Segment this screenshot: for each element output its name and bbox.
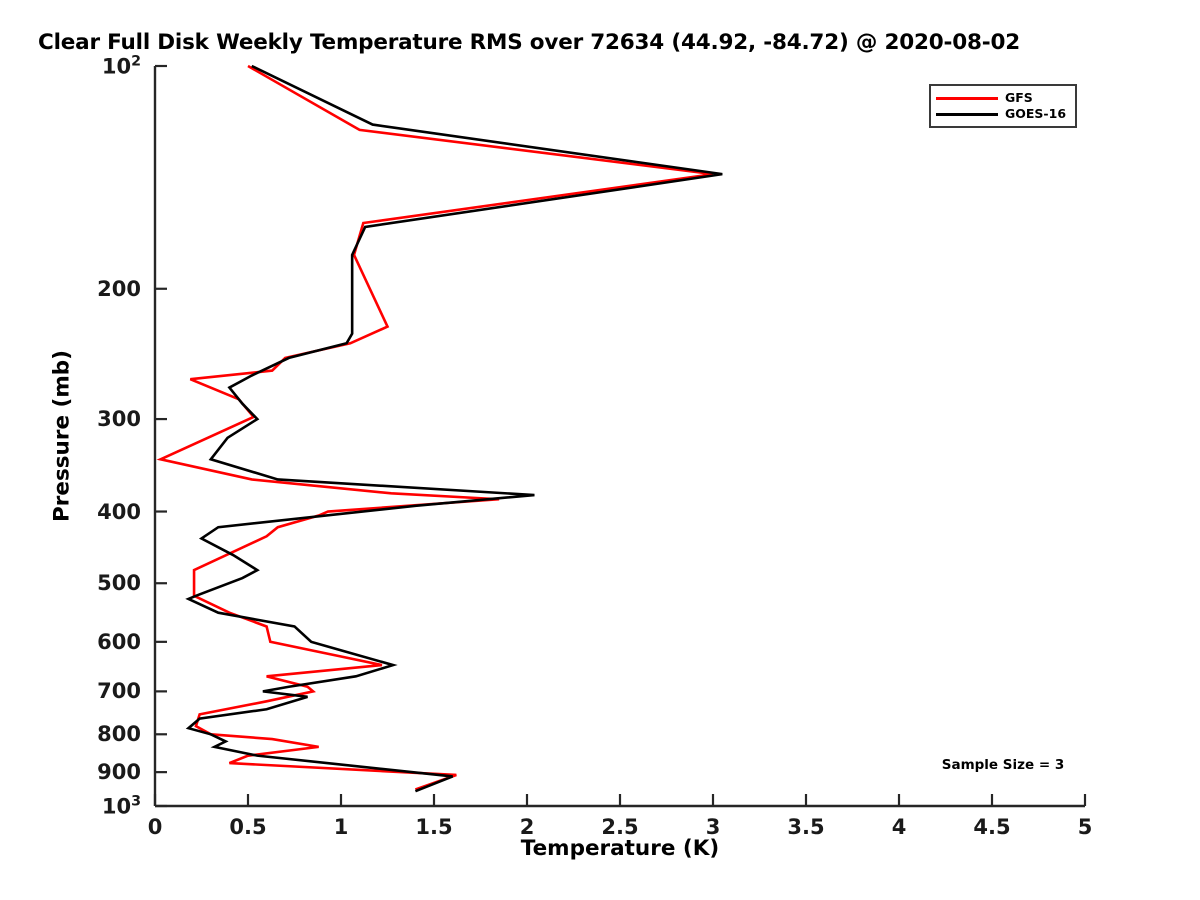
chart-page: Clear Full Disk Weekly Temperature RMS o… — [0, 0, 1200, 900]
y-tick-label: 103 — [102, 794, 141, 819]
x-tick-label: 0.5 — [229, 815, 266, 839]
page-title: Clear Full Disk Weekly Temperature RMS o… — [38, 30, 1020, 55]
plot-canvas — [155, 66, 1085, 806]
x-tick-label: 3.5 — [787, 815, 824, 839]
y-tick-label: 600 — [97, 630, 141, 654]
y-tick-label: 400 — [97, 500, 141, 524]
legend: GFSGOES-16 — [929, 84, 1077, 128]
y-tick-label: 102 — [102, 54, 141, 79]
x-tick-label: 0 — [148, 815, 163, 839]
y-axis-title: Pressure (mb) — [50, 350, 75, 522]
y-tick-label: 300 — [97, 407, 141, 431]
legend-item[interactable]: GOES-16 — [936, 106, 1070, 122]
x-tick-label: 2.5 — [601, 815, 638, 839]
y-tick-label: 700 — [97, 679, 141, 703]
x-tick-label: 2 — [520, 815, 535, 839]
sample-size-annotation: Sample Size = 3 — [942, 757, 1065, 773]
y-tick-label: 500 — [97, 571, 141, 595]
x-tick-label: 1 — [334, 815, 349, 839]
x-tick-label: 5 — [1078, 815, 1093, 839]
legend-item[interactable]: GFS — [936, 90, 1070, 106]
x-tick-label: 4 — [892, 815, 907, 839]
y-tick-label: 900 — [97, 760, 141, 784]
x-tick-label: 1.5 — [415, 815, 452, 839]
legend-swatch-gfs — [936, 97, 998, 100]
series-line-goes-16 — [188, 66, 722, 791]
legend-swatch-goes-16 — [936, 113, 998, 116]
legend-label: GFS — [1005, 92, 1033, 105]
y-tick-label: 200 — [97, 277, 141, 301]
x-tick-label: 4.5 — [973, 815, 1010, 839]
legend-label: GOES-16 — [1005, 108, 1066, 121]
data-series-group — [161, 66, 723, 791]
x-tick-label: 3 — [706, 815, 721, 839]
plot-area: 102200300400500600700800900103 00.511.52… — [155, 66, 1085, 806]
y-tick-label: 800 — [97, 722, 141, 746]
x-axis-title: Temperature (K) — [521, 836, 719, 861]
